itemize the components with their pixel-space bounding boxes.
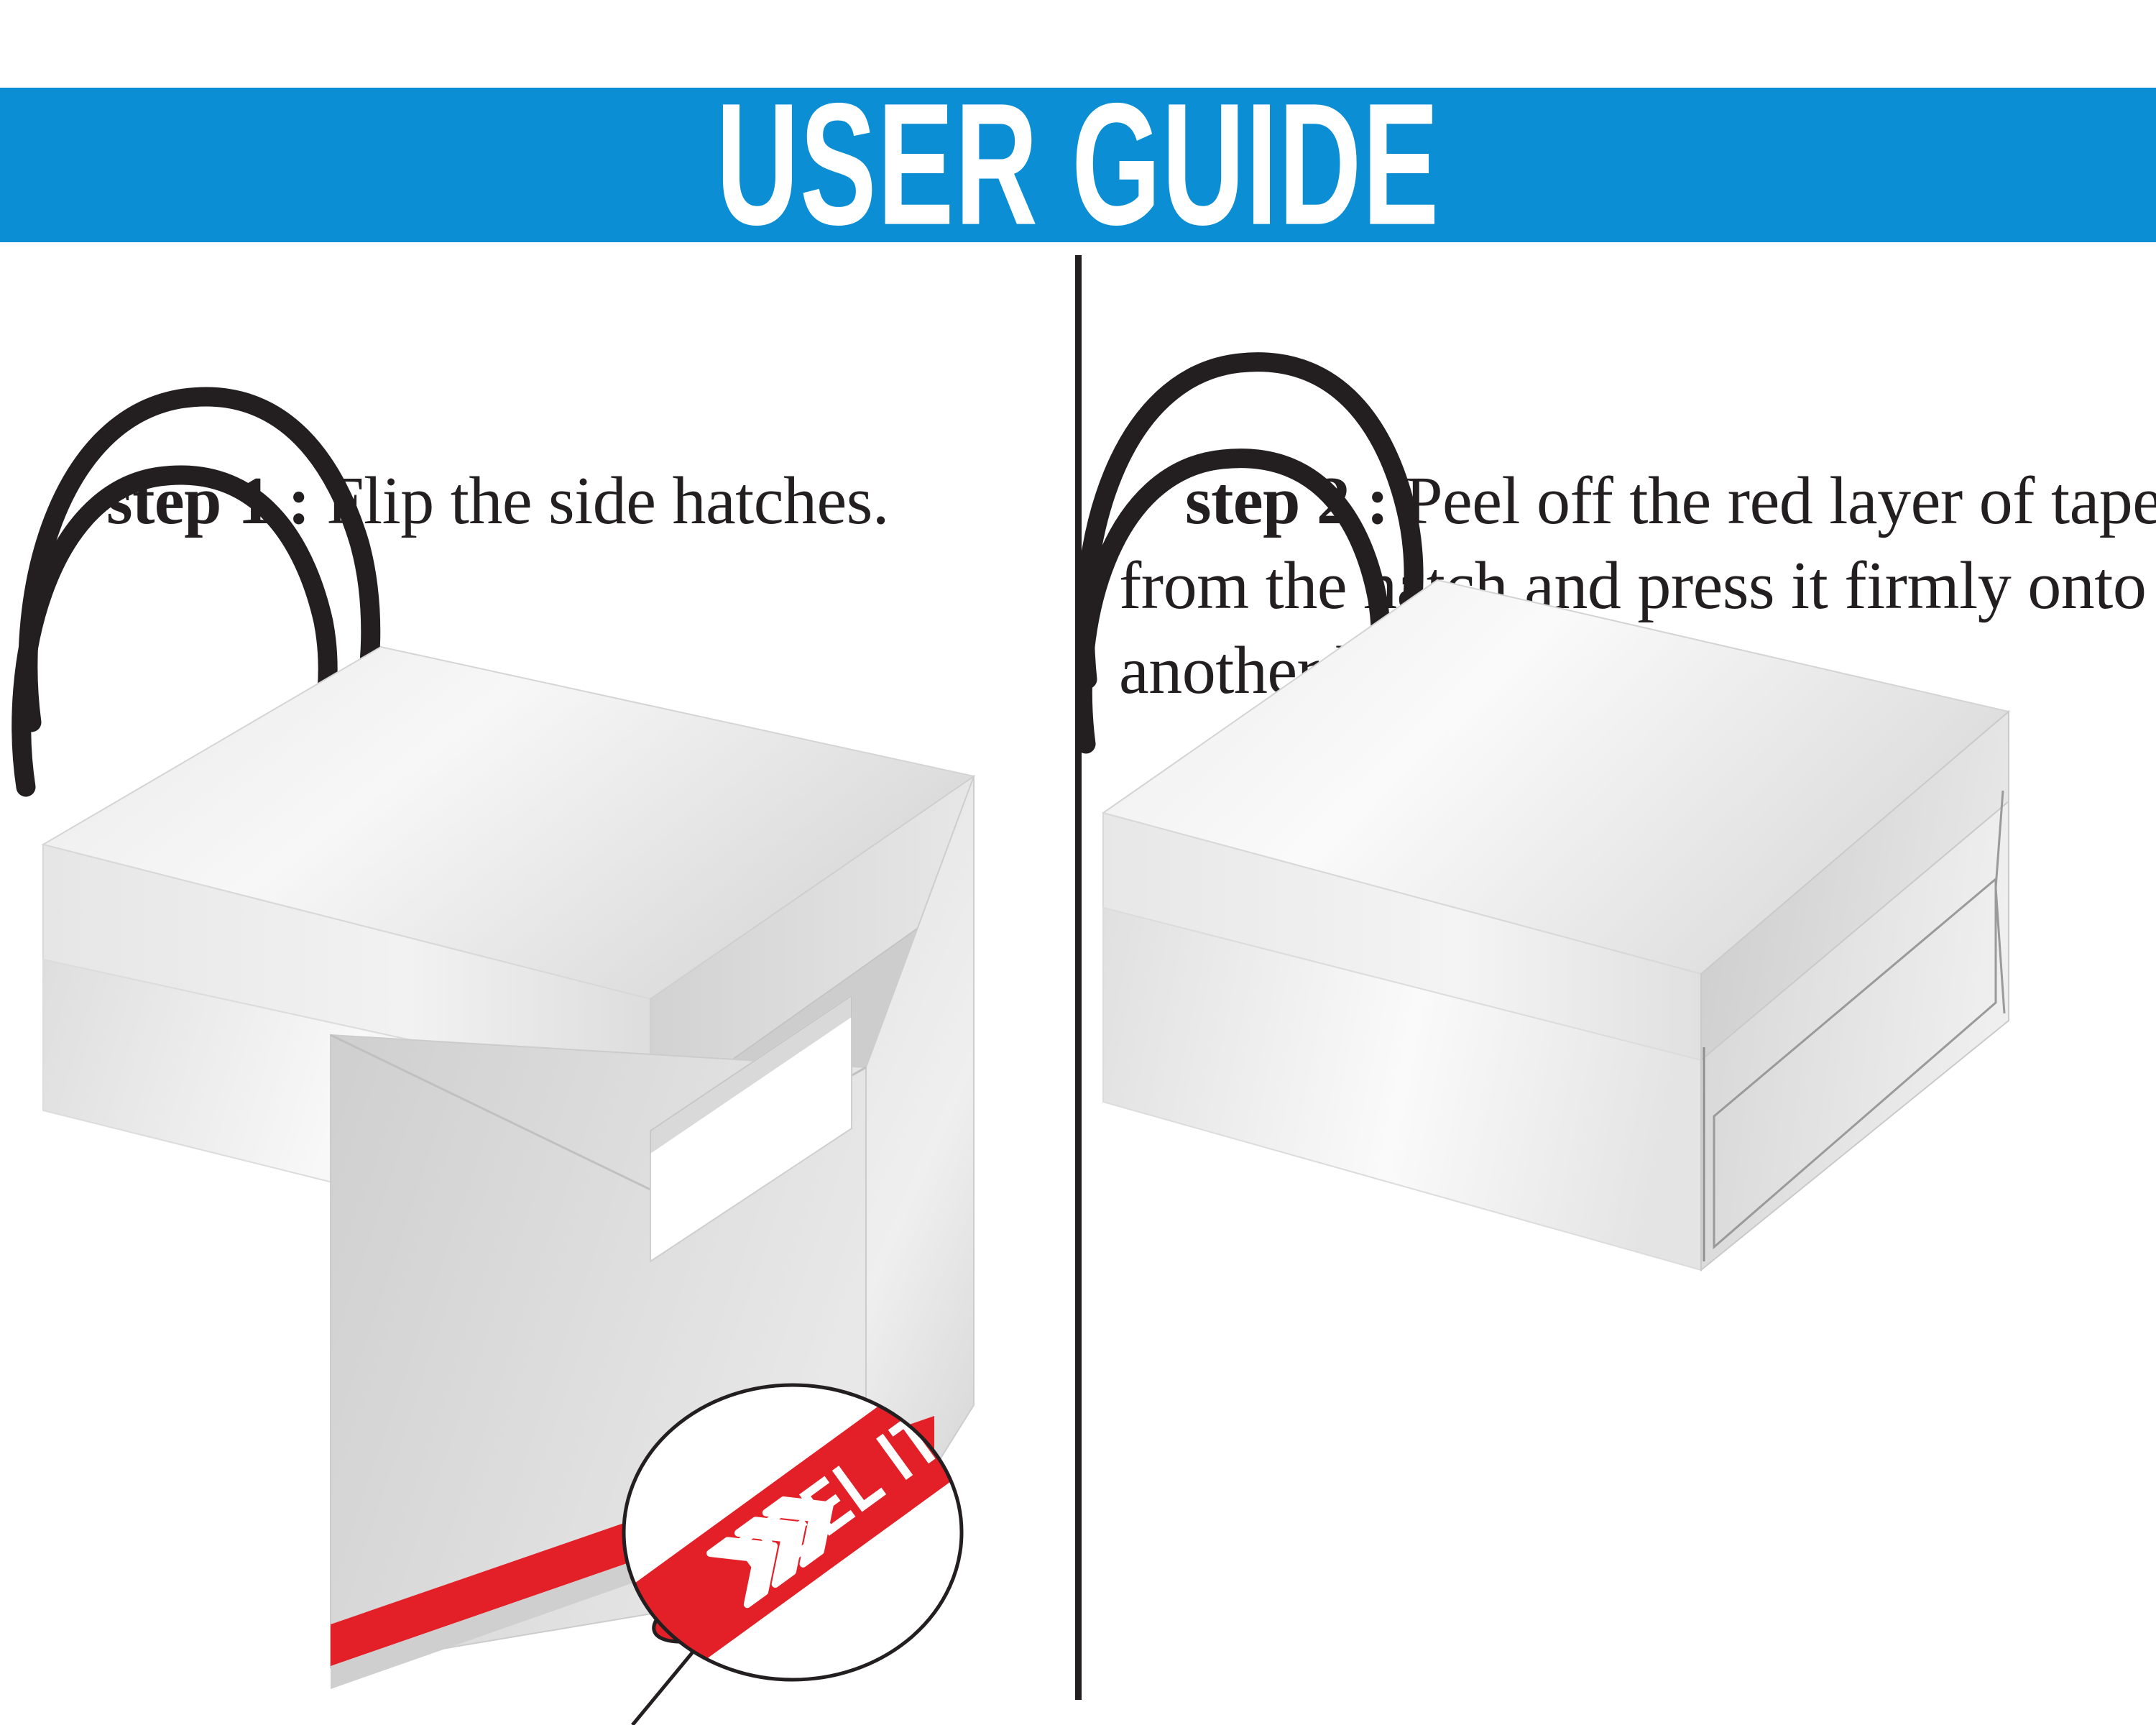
header-banner: USER GUIDE: [0, 88, 2156, 242]
column-divider: [1075, 255, 1082, 1700]
peel-it-callout-bubble: PEEL IT: [611, 1366, 970, 1703]
step-2-column: step 2 : Peel off the red layer of tape …: [1082, 255, 2156, 1725]
step-2-illustration: [1082, 255, 2156, 1725]
page-title: USER GUIDE: [323, 88, 1833, 242]
